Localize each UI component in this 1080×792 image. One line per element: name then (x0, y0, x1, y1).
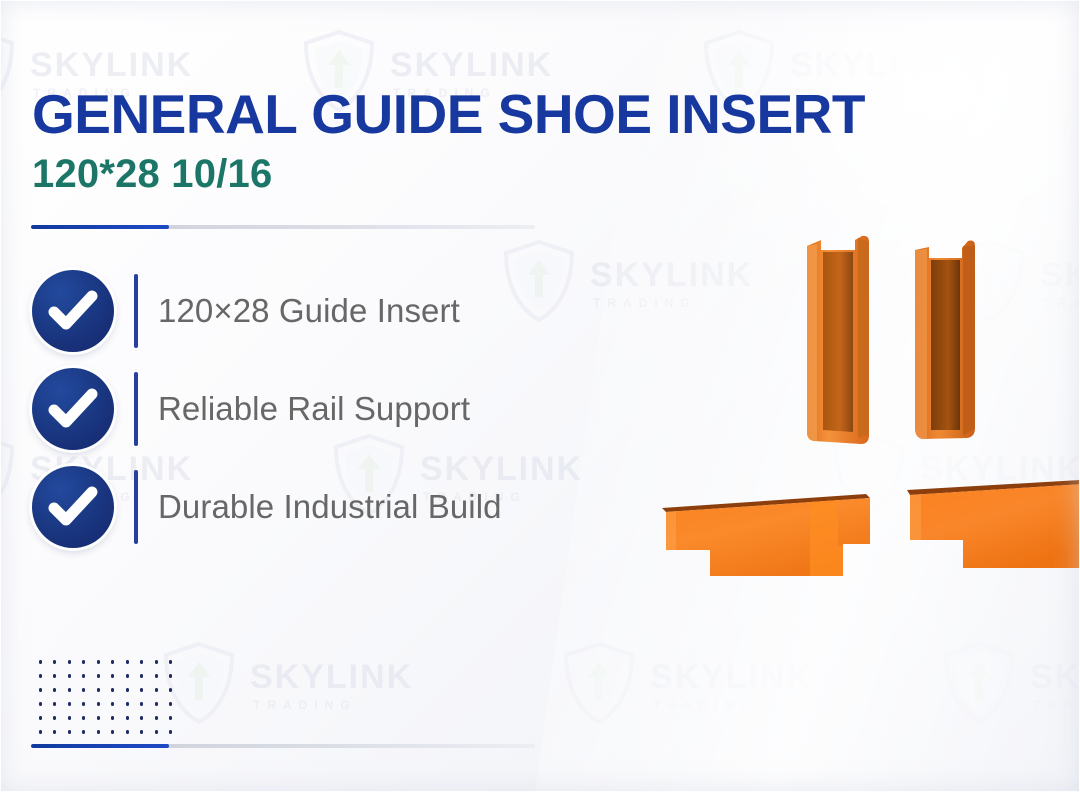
watermark-text: SKYLINKTRADING (650, 660, 813, 711)
dot-grid-row (33, 725, 178, 739)
dot (33, 655, 48, 669)
watermark-text: SKYLINKTRADING (250, 660, 413, 711)
dot (106, 683, 121, 697)
dot (91, 669, 106, 683)
dot (149, 683, 164, 697)
watermark-tagline: TRADING (650, 699, 813, 711)
dot (135, 711, 150, 725)
watermark-brand: SKYLINK (650, 660, 813, 694)
dot-grid-row (33, 697, 178, 711)
dot (149, 697, 164, 711)
dot (164, 725, 179, 739)
watermark-tagline: TRADING (1030, 699, 1080, 711)
dot (164, 711, 179, 725)
dot (91, 683, 106, 697)
feature-item-2: Reliable Rail Support (32, 360, 502, 458)
dot (164, 655, 179, 669)
watermark-brand: SKYLINK (390, 48, 553, 82)
dot-grid-row (33, 711, 178, 725)
watermark-4: SKYLINKTRADING (500, 238, 753, 329)
corner-light-sheen (638, 0, 1080, 369)
dot (62, 711, 77, 725)
watermark-tagline: TRADING (920, 491, 1080, 503)
watermark-10: SKYLINKTRADING (560, 640, 813, 731)
check-icon (32, 270, 114, 352)
shield-arrow-icon (830, 432, 908, 523)
watermark-text: SKYLINKTRADING (1030, 660, 1080, 711)
dot (77, 655, 92, 669)
dot (33, 725, 48, 739)
dot (120, 725, 135, 739)
dot (135, 655, 150, 669)
dot (120, 669, 135, 683)
dot (91, 711, 106, 725)
dot-grid-decoration (33, 655, 178, 739)
dot (106, 725, 121, 739)
dot (62, 725, 77, 739)
feature-divider (134, 470, 138, 544)
dot (48, 711, 63, 725)
guide-insert-end-view-right (905, 238, 995, 450)
dot (120, 655, 135, 669)
dot (33, 669, 48, 683)
watermark-brand: SKYLINK (30, 48, 193, 82)
watermark-brand: SKYLINK (1030, 660, 1080, 694)
check-icon (32, 466, 114, 548)
watermark-5: SKYLINKTRADING (950, 238, 1080, 329)
dot (91, 697, 106, 711)
watermark-tagline: TRADING (1040, 297, 1080, 309)
watermark-brand: SKYLINK (920, 452, 1080, 486)
watermark-brand: SKYLINK (1040, 258, 1080, 292)
dot (106, 655, 121, 669)
dot (62, 655, 77, 669)
dot (106, 697, 121, 711)
watermark-text: SKYLINKTRADING (590, 258, 753, 309)
feature-divider (134, 274, 138, 348)
dot (149, 669, 164, 683)
watermark-8: SKYLINKTRADING (830, 432, 1080, 523)
top-accent-rule (31, 225, 535, 229)
watermark-11: SKYLINKTRADING (940, 640, 1080, 731)
page-subtitle: 120*28 10/16 (32, 152, 272, 197)
dot-grid-row (33, 683, 178, 697)
check-icon (32, 368, 114, 450)
watermark-brand: SKYLINK (250, 660, 413, 694)
guide-insert-side-view-left (660, 488, 885, 584)
dot (135, 725, 150, 739)
top-accent-rule-fill (31, 225, 169, 229)
dot (164, 683, 179, 697)
page-title: GENERAL GUIDE SHOE INSERT (32, 82, 865, 146)
bottom-accent-rule-fill (31, 744, 169, 748)
dot (48, 655, 63, 669)
dot (48, 669, 63, 683)
feature-list: 120×28 Guide InsertReliable Rail Support… (32, 262, 502, 556)
watermark-text: SKYLINKTRADING (920, 452, 1080, 503)
feature-label: Reliable Rail Support (158, 390, 470, 428)
shield-arrow-icon (560, 640, 638, 731)
dot (120, 711, 135, 725)
dot (77, 697, 92, 711)
feature-item-1: 120×28 Guide Insert (32, 262, 502, 360)
dot (120, 697, 135, 711)
watermark-tagline: TRADING (250, 699, 413, 711)
guide-insert-end-view-left (795, 232, 885, 454)
dot (149, 711, 164, 725)
dot (62, 669, 77, 683)
dot (48, 725, 63, 739)
guide-insert-side-view-right (905, 478, 1080, 574)
dot (77, 725, 92, 739)
dot (135, 683, 150, 697)
feature-item-3: Durable Industrial Build (32, 458, 502, 556)
dot (106, 711, 121, 725)
shield-arrow-icon (0, 432, 18, 523)
promo-banner: SKYLINKTRADINGSKYLINKTRADINGSKYLINKTRADI… (0, 0, 1080, 792)
shield-arrow-icon (940, 640, 1018, 731)
dot (149, 725, 164, 739)
shield-arrow-icon (0, 28, 18, 119)
dot (135, 697, 150, 711)
watermark-brand: SKYLINK (790, 48, 953, 82)
dot (77, 683, 92, 697)
dot (48, 683, 63, 697)
watermark-text: SKYLINKTRADING (1040, 258, 1080, 309)
dot (91, 725, 106, 739)
dot (91, 655, 106, 669)
dot (164, 669, 179, 683)
watermark-tagline: TRADING (590, 297, 753, 309)
dot (62, 683, 77, 697)
dot (33, 711, 48, 725)
bottom-accent-rule (31, 744, 535, 748)
dot (77, 711, 92, 725)
dot (164, 697, 179, 711)
dot (120, 683, 135, 697)
feature-label: Durable Industrial Build (158, 488, 502, 526)
shield-arrow-icon (500, 238, 578, 329)
dot (48, 697, 63, 711)
dot (135, 669, 150, 683)
dot (106, 669, 121, 683)
dot-grid-row (33, 669, 178, 683)
watermark-9: SKYLINKTRADING (160, 640, 413, 731)
dot (33, 697, 48, 711)
shield-arrow-icon (950, 238, 1028, 329)
watermark-brand: SKYLINK (590, 258, 753, 292)
dot-grid-row (33, 655, 178, 669)
feature-label: 120×28 Guide Insert (158, 292, 460, 330)
dot (33, 683, 48, 697)
feature-divider (134, 372, 138, 446)
dot (77, 669, 92, 683)
dot (62, 697, 77, 711)
dot (149, 655, 164, 669)
